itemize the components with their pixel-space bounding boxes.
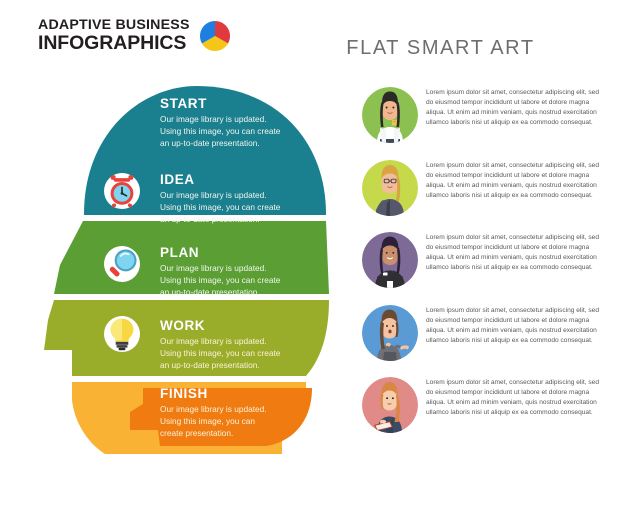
lightbulb-icon: [104, 148, 140, 520]
band-title-finish: FINISH: [160, 386, 267, 401]
avatar-illustration: [362, 160, 418, 216]
avatar-woman-brunette-grey-top: [362, 305, 418, 361]
detail-text: Lorem ipsum dolor sit amet, consectetur …: [426, 306, 602, 346]
avatar-illustration: [362, 87, 418, 143]
band-body-work: Our image library is updated. Using this…: [160, 336, 280, 371]
band-text-plan: PLAN Our image library is updated. Using…: [160, 245, 280, 298]
detail-list: Lorem ipsum dolor sit amet, consectetur …: [362, 86, 602, 449]
band-title-plan: PLAN: [160, 245, 280, 260]
detail-row[interactable]: Lorem ipsum dolor sit amet, consectetur …: [362, 86, 602, 159]
detail-row[interactable]: Lorem ipsum dolor sit amet, consectetur …: [362, 159, 602, 232]
band-title-start: START: [160, 96, 280, 111]
band-title-work: WORK: [160, 318, 280, 333]
detail-text: Lorem ipsum dolor sit amet, consectetur …: [426, 161, 602, 201]
detail-text: Lorem ipsum dolor sit amet, consectetur …: [426, 378, 602, 418]
avatar-woman-dark-hair-white-shirt: [362, 87, 418, 143]
page-title: FLAT SMART ART: [0, 37, 626, 60]
detail-row[interactable]: Lorem ipsum dolor sit amet, consectetur …: [362, 231, 602, 304]
avatar-illustration: [362, 377, 418, 433]
band-body-idea: Our image library is updated. Using this…: [160, 190, 280, 225]
head-diagram: START Our image library is updated. Usin…: [30, 82, 360, 454]
detail-text: Lorem ipsum dolor sit amet, consectetur …: [426, 88, 602, 128]
detail-row[interactable]: Lorem ipsum dolor sit amet, consectetur …: [362, 304, 602, 377]
detail-row[interactable]: Lorem ipsum dolor sit amet, consectetur …: [362, 376, 602, 449]
band-text-idea: IDEA Our image library is updated. Using…: [160, 172, 280, 225]
lightbulb-icon-badge[interactable]: [104, 316, 140, 352]
avatar-woman-redhead-holding-book: [362, 377, 418, 433]
band-body-finish: Our image library is updated. Using this…: [160, 404, 267, 439]
band-body-plan: Our image library is updated. Using this…: [160, 263, 280, 298]
avatar-illustration: [362, 305, 418, 361]
avatar-woman-glasses-grey-suit: [362, 160, 418, 216]
band-body-start: Our image library is updated. Using this…: [160, 114, 280, 149]
detail-text: Lorem ipsum dolor sit amet, consectetur …: [426, 233, 602, 273]
band-text-work: WORK Our image library is updated. Using…: [160, 318, 280, 371]
avatar-illustration: [362, 232, 418, 288]
band-text-start: START Our image library is updated. Usin…: [160, 96, 280, 149]
band-text-finish: FINISH Our image library is updated. Usi…: [160, 386, 267, 439]
avatar-woman-black-suit-arms-crossed: [362, 232, 418, 288]
band-title-idea: IDEA: [160, 172, 280, 187]
